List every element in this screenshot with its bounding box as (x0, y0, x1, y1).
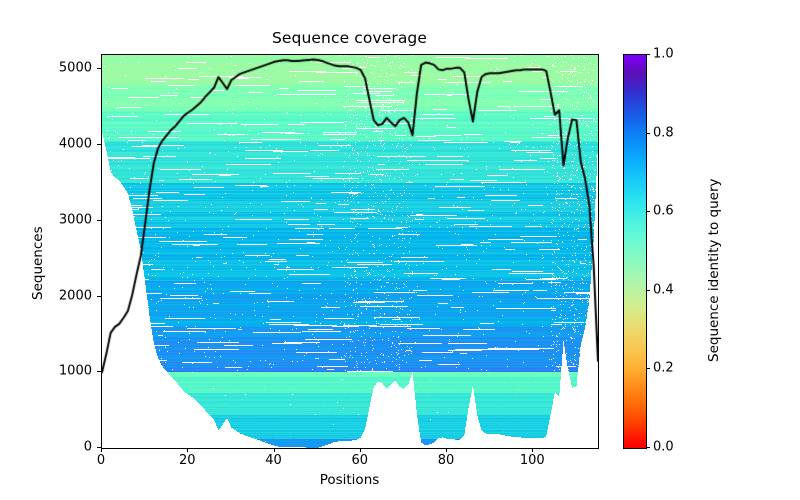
y-tick-label: 1000 (59, 364, 92, 379)
y-tick-label: 0 (84, 440, 92, 455)
y-axis-label: Sequences (30, 226, 46, 300)
x-tick-label: 40 (265, 453, 282, 468)
chart-title: Sequence coverage (101, 29, 598, 47)
colorbar-tick (646, 447, 650, 448)
colorbar-tick-label: 0.4 (653, 282, 674, 297)
x-tick (532, 448, 533, 452)
colorbar-tick (646, 133, 650, 134)
sequence-coverage-figure: Sequence coverage 020406080100 010002000… (0, 0, 800, 500)
x-tick (101, 448, 102, 452)
colorbar-tick-label: 1.0 (653, 47, 674, 62)
y-tick (97, 447, 101, 448)
coverage-line (102, 55, 598, 448)
colorbar-tick (646, 290, 650, 291)
x-tick-label: 60 (352, 453, 369, 468)
x-tick (446, 448, 447, 452)
colorbar-tick (646, 54, 650, 55)
heatmap-axes (101, 54, 599, 449)
y-tick-label: 2000 (59, 288, 92, 303)
colorbar-tick-label: 0.2 (653, 361, 674, 376)
y-tick (97, 144, 101, 145)
colorbar-tick (646, 211, 650, 212)
y-tick (97, 220, 101, 221)
x-tick-label: 20 (179, 453, 196, 468)
y-tick-label: 5000 (59, 61, 92, 76)
x-tick (274, 448, 275, 452)
x-tick-label: 100 (520, 453, 545, 468)
colorbar-label: Sequence identity to query (706, 179, 722, 363)
x-tick (187, 448, 188, 452)
colorbar-tick-label: 0.8 (653, 125, 674, 140)
y-tick (97, 296, 101, 297)
colorbar-tick (646, 368, 650, 369)
colorbar-tick-label: 0.6 (653, 204, 674, 219)
colorbar (623, 54, 647, 449)
y-tick-label: 4000 (59, 137, 92, 152)
y-tick (97, 371, 101, 372)
colorbar-tick-label: 0.0 (653, 440, 674, 455)
y-tick (97, 68, 101, 69)
x-axis-label: Positions (101, 472, 598, 488)
x-tick-label: 80 (438, 453, 455, 468)
y-tick-label: 3000 (59, 212, 92, 227)
x-tick-label: 0 (97, 453, 105, 468)
x-tick (360, 448, 361, 452)
